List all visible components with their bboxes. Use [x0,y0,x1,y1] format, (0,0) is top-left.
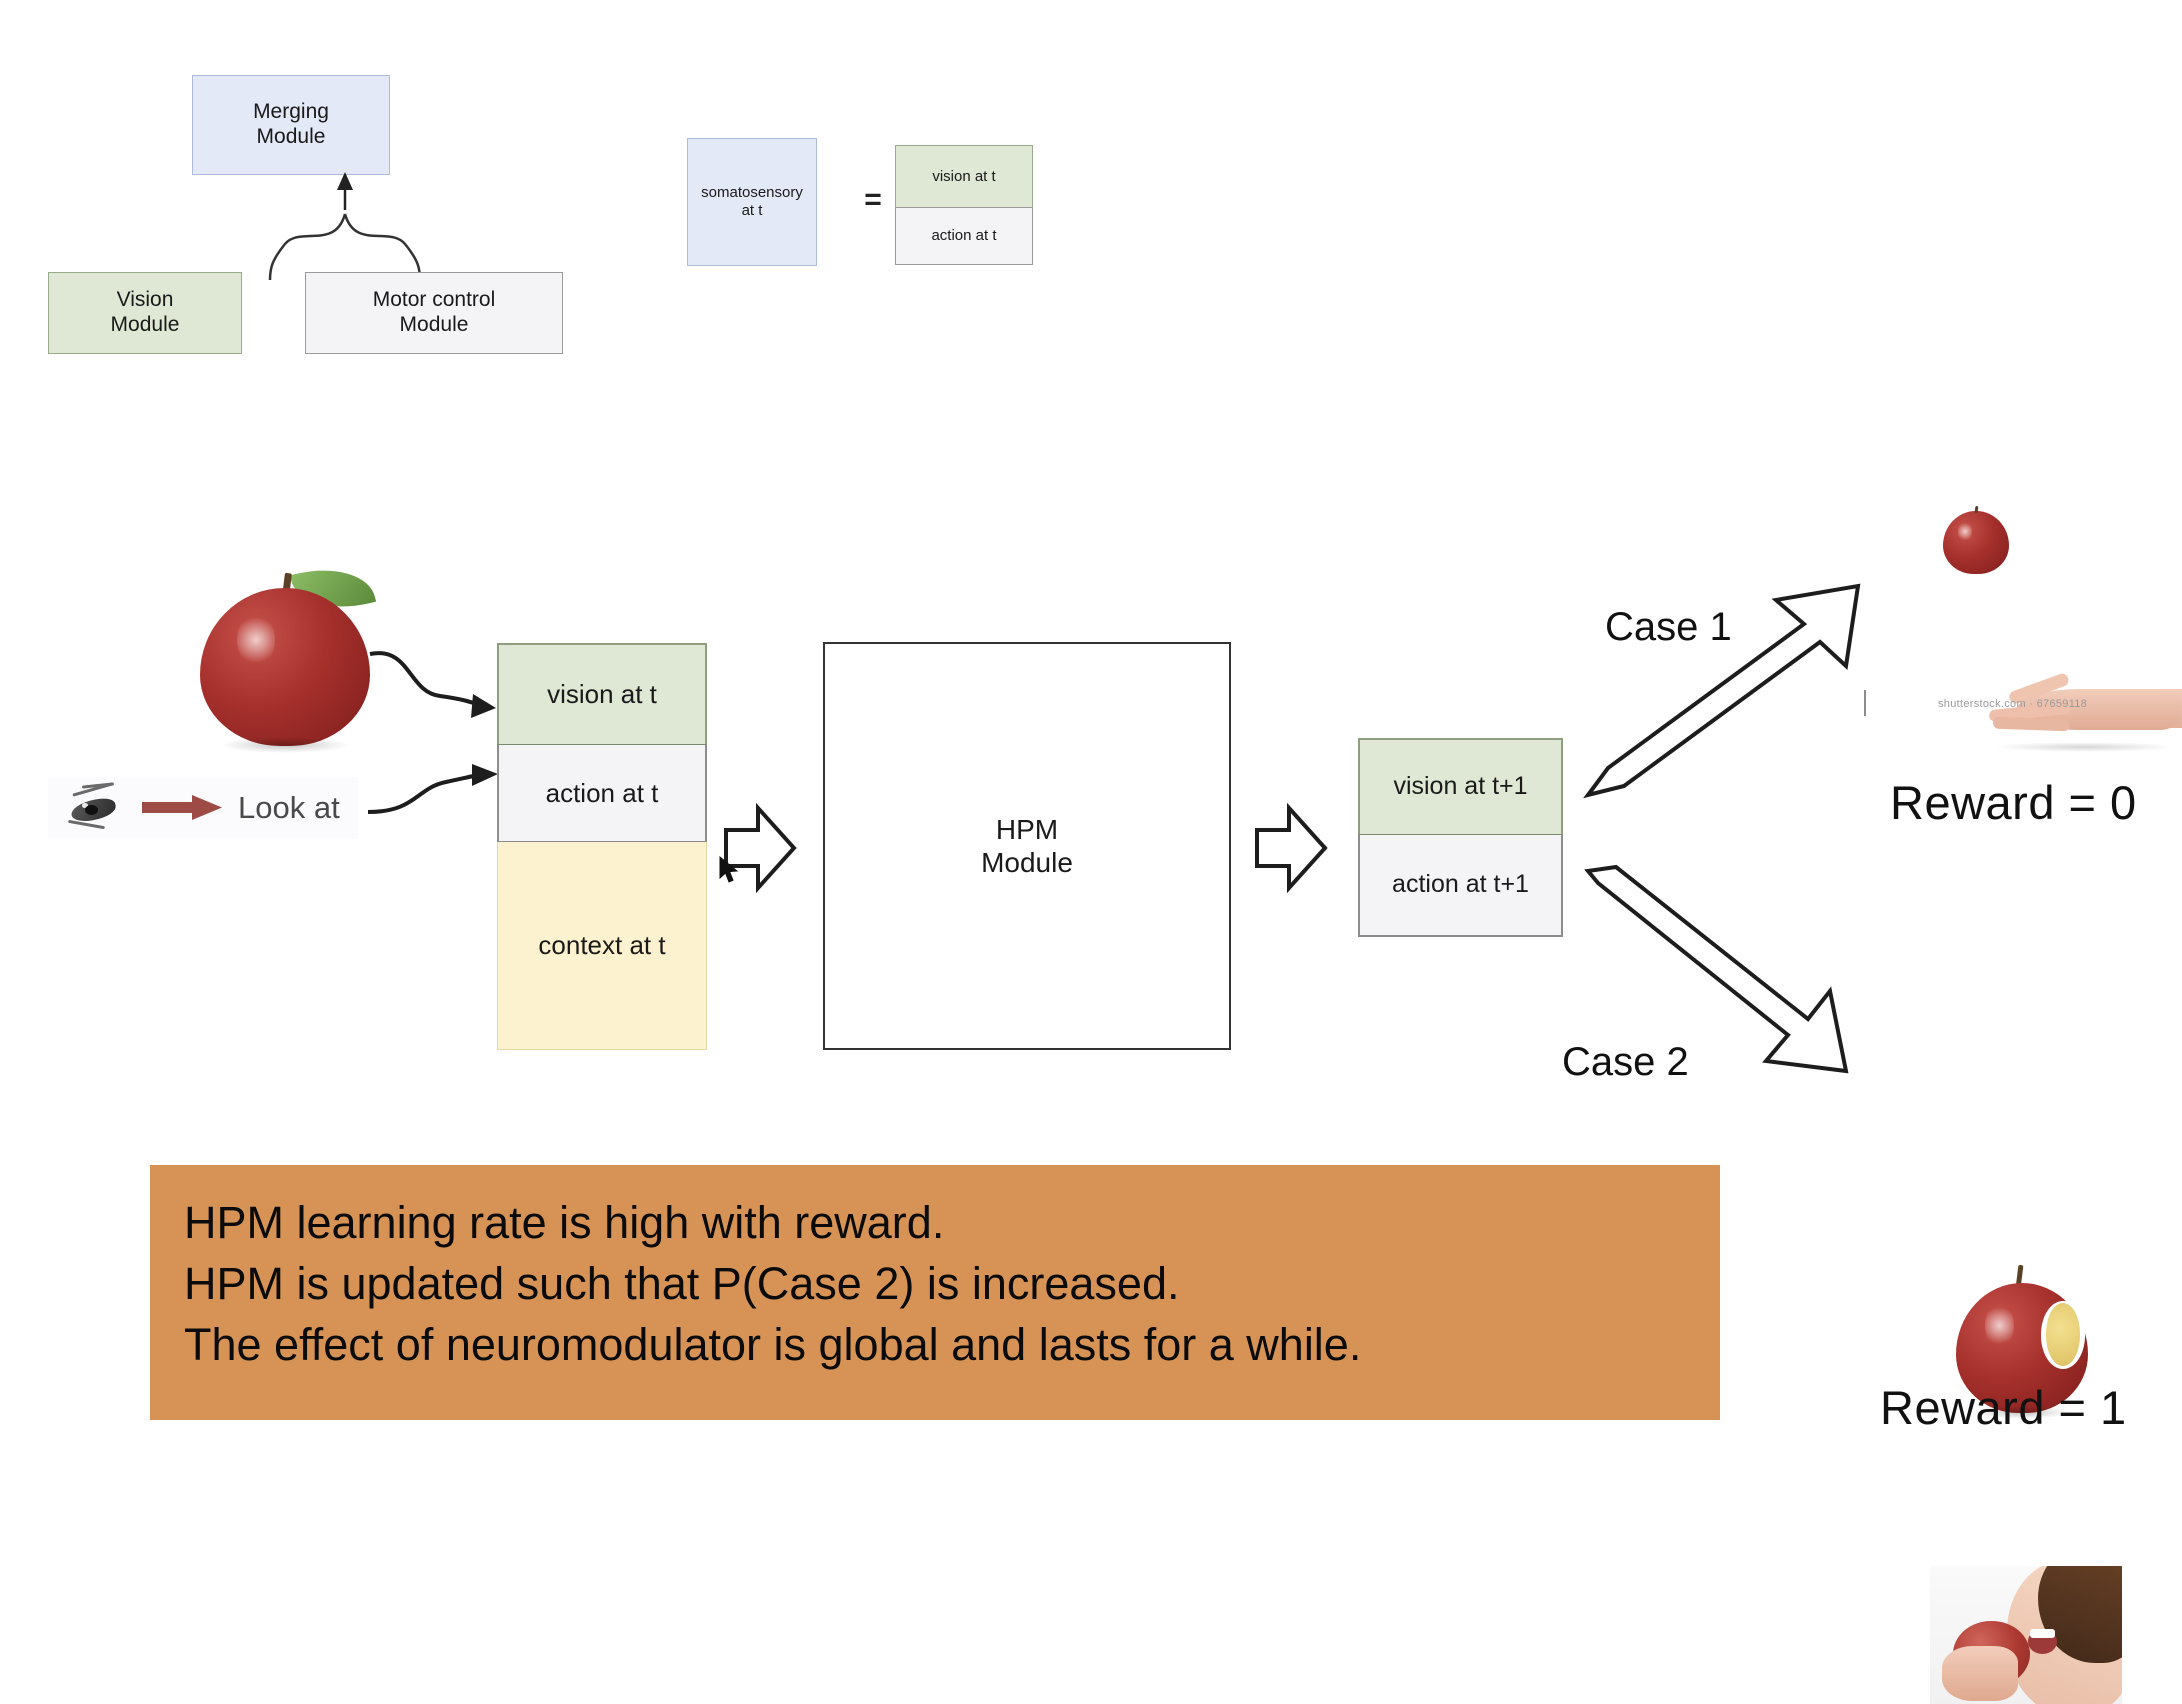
module-connector-lines [140,168,460,288]
motor-module-label-line1: Motor control [373,288,496,313]
reward0-image-group [1885,500,2182,720]
hpm-module-label-line1: HPM [996,813,1058,846]
input-action-box: action at t [497,745,707,842]
holding-hand [1942,1646,2019,1701]
motor-control-module-box: Motor control Module [305,272,563,354]
vision-module-label-line2: Module [111,313,180,338]
case1-label: Case 1 [1605,605,1795,650]
equation-action-box: action at t [895,207,1033,265]
apple-to-vision-arrow [370,630,510,740]
output-vision-box: vision at t+1 [1358,738,1563,835]
hand-shadow [1993,742,2175,752]
equals-sign: = [855,180,891,220]
hpm-to-output-block-arrow [1255,800,1327,896]
eating-apple-image [1930,1566,2122,1704]
apple-body [1943,511,2009,574]
merging-module-label-line2: Module [257,125,326,150]
hpm-module-label-line2: Module [981,846,1073,879]
apple-body [200,588,370,746]
motor-module-label-line2: Module [400,313,469,338]
reward0-label: Reward = 0 [1890,775,2182,830]
merging-module-label-line1: Merging [253,100,329,125]
input-vision-box: vision at t [497,643,707,745]
reward1-label: Reward = 1 [1880,1380,2182,1435]
woman-teeth [2030,1629,2055,1637]
shutterstock-watermark: shutterstock.com · 67659118 [1938,698,2182,710]
somatosensory-label-line1: somatosensory [701,184,803,202]
mouse-cursor [718,856,740,886]
finger-ring [1993,717,2070,732]
eye-icon [58,779,138,837]
callout-line-3: The effect of neuromodulator is global a… [184,1315,1686,1376]
case2-label: Case 2 [1562,1040,1752,1085]
equation-vision-box: vision at t [895,145,1033,207]
output-action-box: action at t+1 [1358,835,1563,937]
apple-image [200,566,370,746]
input-context-box: context at t [497,842,707,1050]
look-at-red-arrow [142,791,228,823]
apple-highlight [1985,1303,2014,1347]
apple-shadow [220,737,349,753]
callout-line-1: HPM learning rate is high with reward. [184,1193,1686,1254]
apple-highlight [237,613,274,667]
somatosensory-label-line2: at t [742,202,763,220]
hpm-module-box: HPM Module [823,642,1231,1050]
apple-flesh [2046,1303,2080,1365]
merging-module-box: Merging Module [192,75,390,175]
apple-highlight [1958,521,1973,543]
vision-module-box: Vision Module [48,272,242,354]
divider-tick [1864,690,1866,716]
callout-box: HPM learning rate is high with reward. H… [150,1165,1720,1420]
vision-module-label-line1: Vision [117,288,174,313]
reward0-apple-image [1943,502,2009,574]
eye-pupil [85,805,98,815]
lookat-to-action-arrow [368,760,513,840]
callout-line-2: HPM is updated such that P(Case 2) is in… [184,1254,1686,1315]
somatosensory-box: somatosensory at t [687,138,817,266]
look-at-label: Look at [238,790,388,826]
